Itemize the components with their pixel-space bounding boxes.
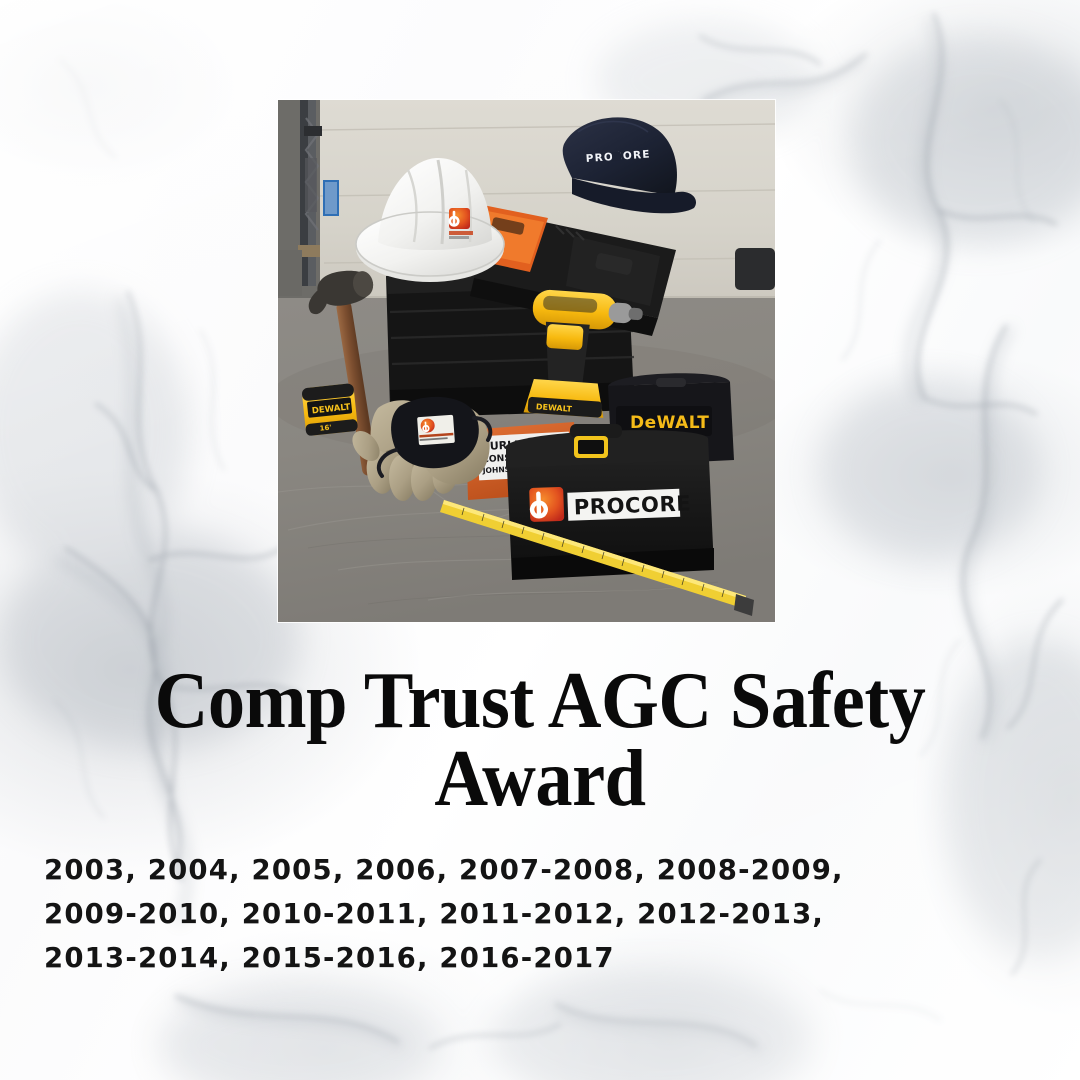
title-line-1: Comp Trust AGC Safety bbox=[94, 662, 987, 740]
title-line-2: Award bbox=[94, 740, 987, 818]
svg-text:DeWALT: DeWALT bbox=[630, 413, 709, 433]
svg-text:PROCORE: PROCORE bbox=[573, 491, 691, 519]
safety-gear-photo: PROCORE bbox=[278, 100, 775, 622]
poster-canvas: PROCORE bbox=[0, 0, 1080, 1080]
years-line-1: 2003, 2004, 2005, 2006, 2007-2008, 2008-… bbox=[44, 848, 1044, 892]
award-years-list: 2003, 2004, 2005, 2006, 2007-2008, 2008-… bbox=[44, 848, 1044, 980]
years-line-2: 2009-2010, 2010-2011, 2011-2012, 2012-20… bbox=[44, 892, 1044, 936]
page-title: Comp Trust AGC Safety Award bbox=[60, 662, 1020, 819]
years-line-3: 2013-2014, 2015-2016, 2016-2017 bbox=[44, 936, 1044, 980]
svg-text:16': 16' bbox=[319, 424, 332, 433]
